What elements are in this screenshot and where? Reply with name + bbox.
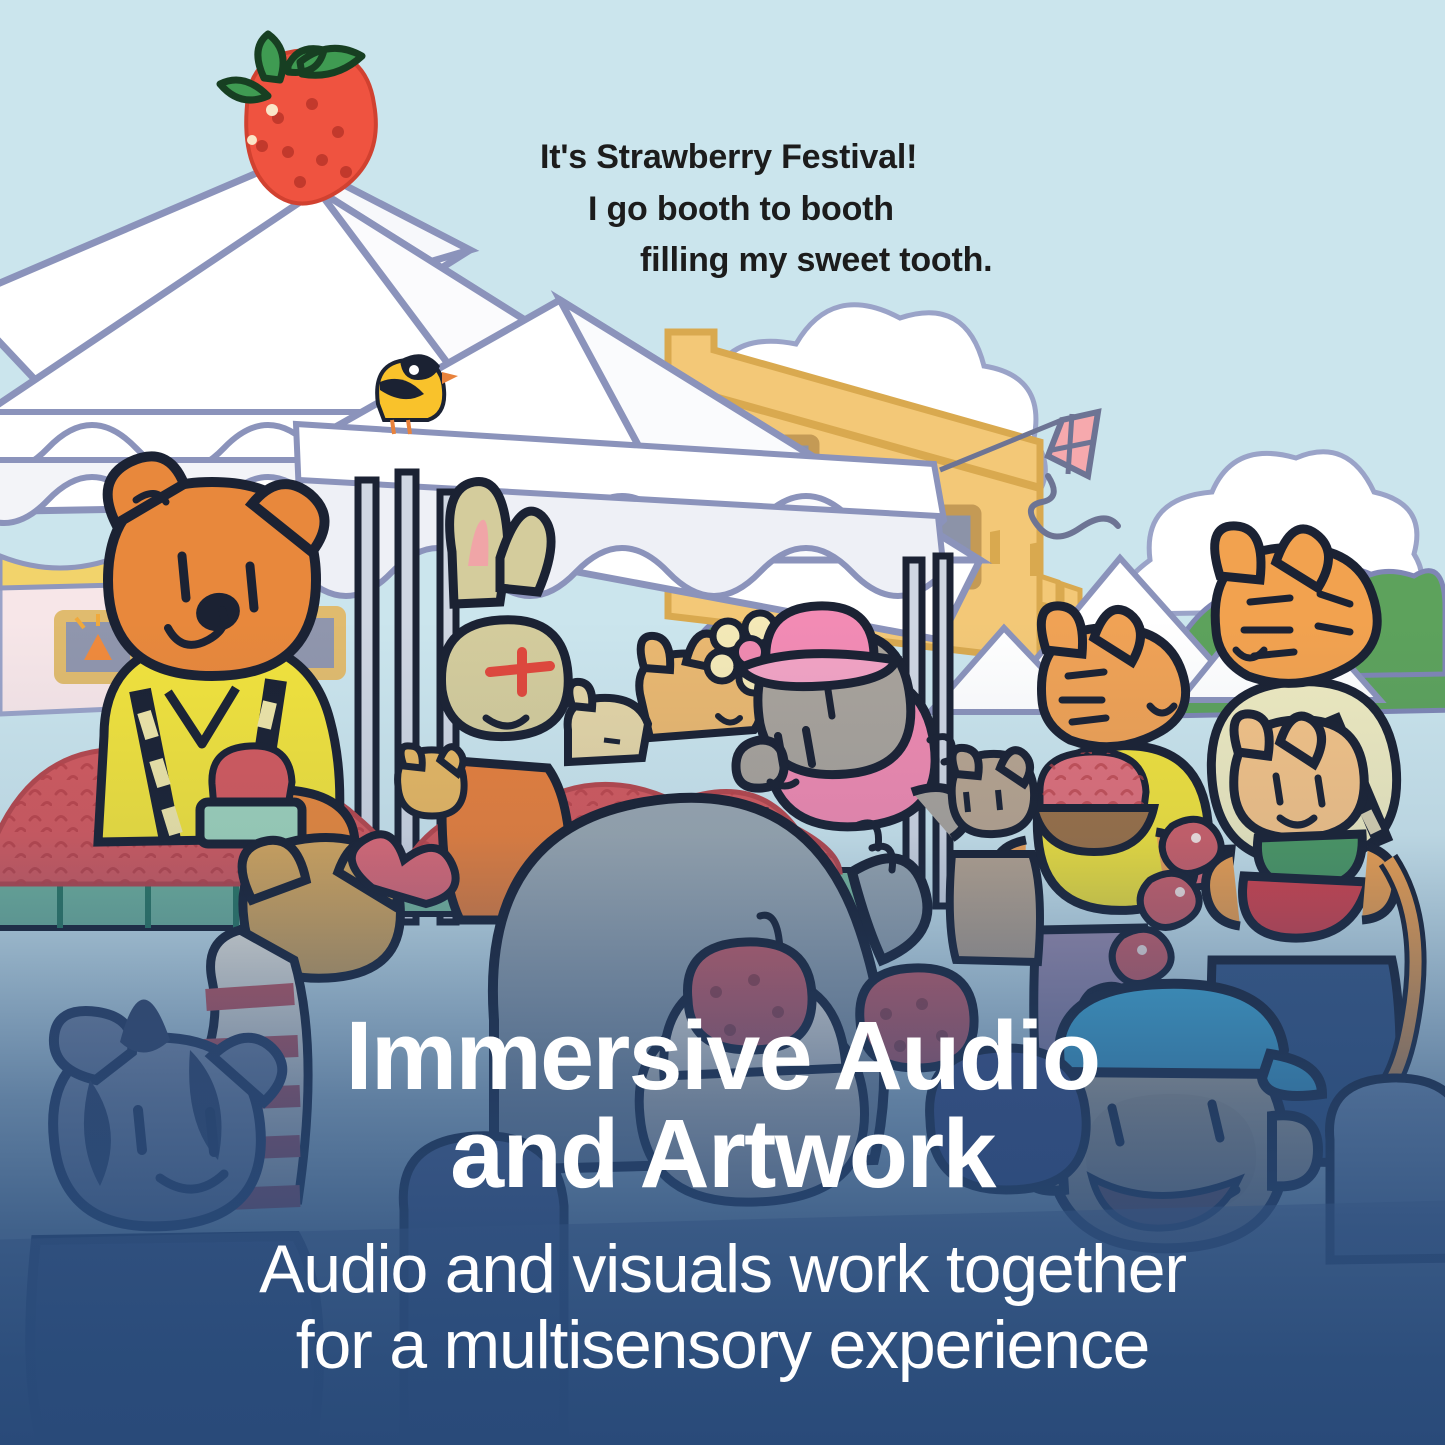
promo-title-line-1: Immersive Audio <box>40 1007 1405 1105</box>
promo-subtitle: Audio and visuals work together for a mu… <box>40 1231 1405 1383</box>
promo-subtitle-line-1: Audio and visuals work together <box>40 1231 1405 1307</box>
promo-title: Immersive Audio and Artwork <box>40 1007 1405 1203</box>
promo-subtitle-line-2: for a multisensory experience <box>40 1307 1405 1383</box>
story-caption: It's Strawberry Festival! I go booth to … <box>540 132 1160 287</box>
promo-card: It's Strawberry Festival! I go booth to … <box>0 0 1445 1445</box>
promo-overlay: Immersive Audio and Artwork Audio and vi… <box>0 1007 1445 1383</box>
caption-line-2: I go booth to booth <box>540 184 1160 236</box>
caption-line-1: It's Strawberry Festival! <box>540 132 1160 184</box>
caption-line-3: filling my sweet tooth. <box>540 235 1160 287</box>
promo-title-line-2: and Artwork <box>40 1105 1405 1203</box>
